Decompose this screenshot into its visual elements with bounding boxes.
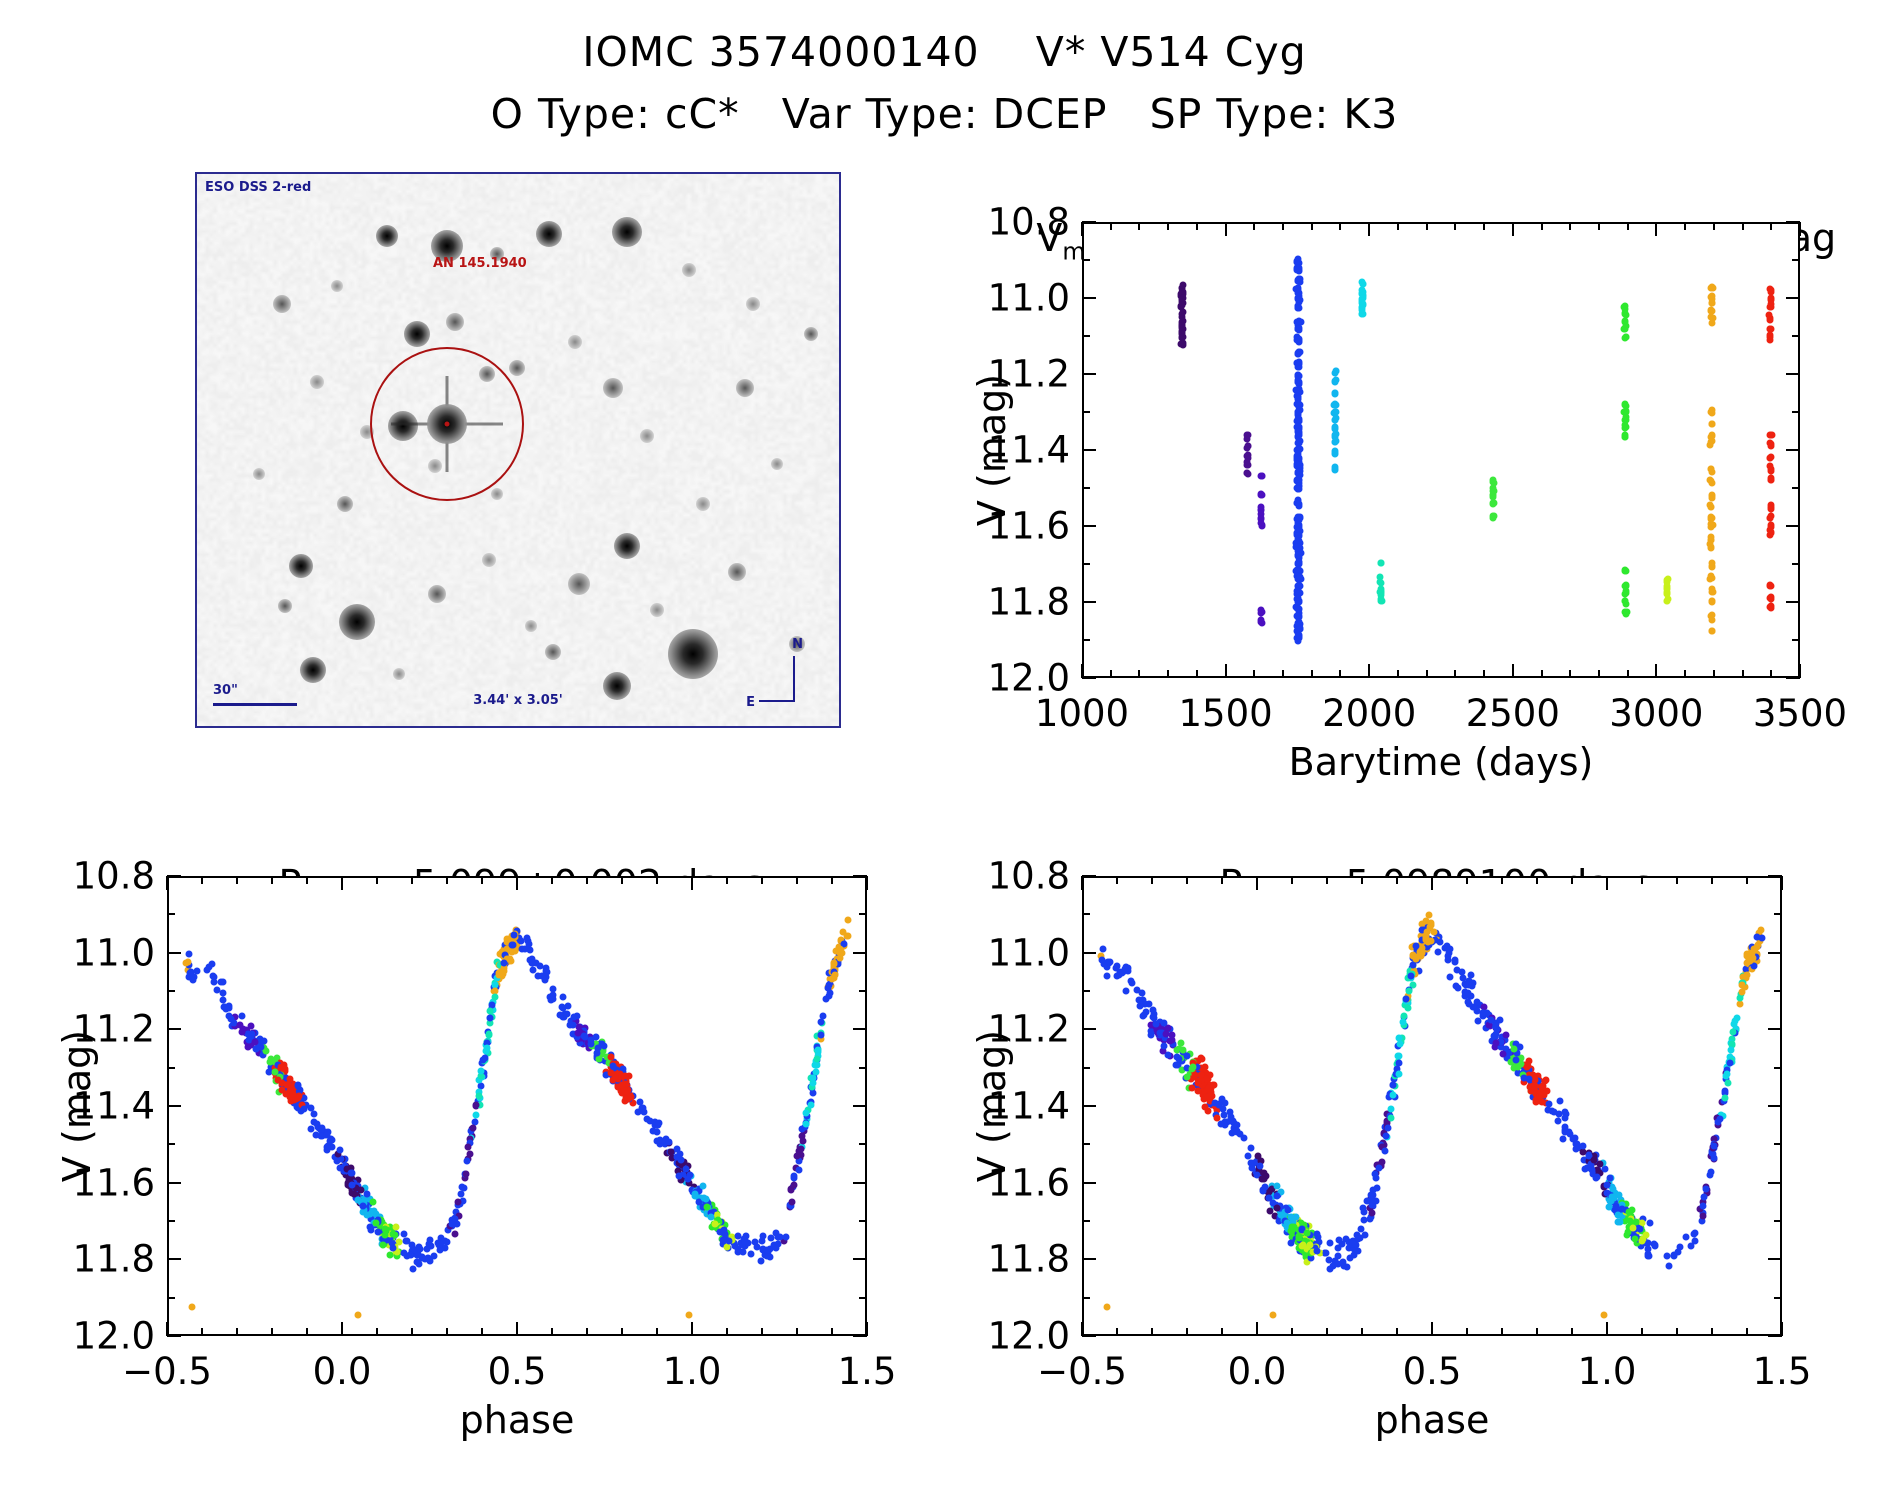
x-axis-tick xyxy=(1655,664,1657,678)
y-axis-tick-label: 10.8 xyxy=(970,201,1070,244)
x-axis-minor-tick xyxy=(1641,1328,1643,1336)
x-axis-minor-tick xyxy=(1326,876,1328,884)
data-point xyxy=(757,1257,764,1264)
x-axis-tick-label: 3500 xyxy=(1753,692,1847,735)
scale-bar-label: 30" xyxy=(213,683,238,698)
data-point xyxy=(1299,1242,1306,1249)
data-point xyxy=(349,1170,356,1177)
data-point xyxy=(416,1260,423,1267)
data-point xyxy=(764,1253,771,1260)
x-axis-tick xyxy=(1081,664,1083,678)
data-point xyxy=(1615,1219,1622,1226)
data-point xyxy=(409,1265,416,1272)
data-point xyxy=(1767,594,1774,601)
x-axis-tick-label: 0.0 xyxy=(313,1350,372,1393)
y-axis-minor-tick xyxy=(167,913,175,915)
y-axis-tick xyxy=(1768,875,1782,877)
field-star xyxy=(337,496,353,512)
data-point xyxy=(1497,1016,1504,1023)
x-axis-minor-tick xyxy=(271,1328,273,1336)
data-point xyxy=(741,1238,748,1245)
data-point xyxy=(1114,963,1121,970)
x-axis-minor-tick xyxy=(726,876,728,884)
y-axis-minor-tick xyxy=(1792,639,1800,641)
data-point xyxy=(1754,934,1761,941)
data-point xyxy=(796,1166,803,1173)
data-point xyxy=(253,1045,260,1052)
data-point xyxy=(1728,1046,1735,1053)
y-axis-tick xyxy=(853,1335,867,1337)
data-point xyxy=(465,1143,472,1150)
x-axis-minor-tick xyxy=(236,1328,238,1336)
data-point xyxy=(1403,996,1410,1003)
x-axis-minor-tick xyxy=(1466,1328,1468,1336)
field-star xyxy=(728,563,746,581)
data-point xyxy=(495,971,502,978)
x-axis-minor-tick xyxy=(1641,876,1643,884)
x-axis-minor-tick xyxy=(1541,222,1543,230)
data-point xyxy=(1651,1241,1658,1248)
x-axis-minor-tick xyxy=(1138,222,1140,230)
data-point xyxy=(1614,1212,1621,1219)
data-point xyxy=(1636,1226,1643,1233)
compass-east-label: E xyxy=(746,695,755,710)
data-point xyxy=(1333,377,1340,384)
data-point xyxy=(1622,421,1629,428)
data-point xyxy=(692,1191,699,1198)
data-point xyxy=(487,1007,494,1014)
field-star xyxy=(682,263,696,277)
data-point xyxy=(1296,573,1303,580)
data-point xyxy=(1502,1032,1509,1039)
x-axis-minor-tick xyxy=(1253,670,1255,678)
y-axis-minor-tick xyxy=(859,913,867,915)
data-point xyxy=(721,1230,728,1237)
data-point xyxy=(1295,325,1302,332)
data-point xyxy=(1488,1016,1495,1023)
data-point xyxy=(1285,1206,1292,1213)
y-axis-tick xyxy=(1768,1182,1782,1184)
y-axis-tick xyxy=(1082,221,1096,223)
data-point xyxy=(1150,1007,1157,1014)
data-point xyxy=(475,1092,482,1099)
x-axis-minor-tick xyxy=(1311,222,1313,230)
y-axis-minor-tick xyxy=(1774,1067,1782,1069)
data-point xyxy=(1709,589,1716,596)
x-axis-minor-tick xyxy=(411,1328,413,1336)
data-point xyxy=(1294,551,1301,558)
data-point xyxy=(1709,284,1716,291)
iomc-summary-sheet: IOMC 3574000140 V* V514 Cyg O Type: cC* … xyxy=(0,0,1889,1494)
data-point xyxy=(1349,1241,1356,1248)
x-axis-tick xyxy=(691,1322,693,1336)
y-axis-tick xyxy=(1786,373,1800,375)
data-point xyxy=(1383,1132,1390,1139)
data-point xyxy=(437,1240,444,1247)
data-point xyxy=(1621,324,1628,331)
data-point xyxy=(312,1131,319,1138)
data-point xyxy=(1670,1253,1677,1260)
data-point xyxy=(1700,1194,1707,1201)
field-star xyxy=(300,657,326,683)
compass-north-axis xyxy=(793,656,795,702)
y-axis-minor-tick xyxy=(1082,1067,1090,1069)
x-axis-tick xyxy=(1512,222,1514,236)
field-star xyxy=(650,603,664,617)
data-point xyxy=(1521,1075,1528,1082)
y-axis-minor-tick xyxy=(167,1297,175,1299)
x-axis-minor-tick xyxy=(1396,876,1398,884)
x-axis-tick-label: 2000 xyxy=(1322,692,1416,735)
x-axis-tick-label: 1.0 xyxy=(663,1350,722,1393)
data-point xyxy=(1359,311,1366,318)
x-axis-minor-tick xyxy=(1676,876,1678,884)
x-axis-tick xyxy=(1256,876,1258,890)
data-point xyxy=(1204,1094,1211,1101)
y-axis-tick xyxy=(167,1258,181,1260)
data-point xyxy=(364,1212,371,1219)
data-point xyxy=(301,1105,308,1112)
x-axis-minor-tick xyxy=(796,1328,798,1336)
y-axis-tick xyxy=(167,1028,181,1030)
data-point xyxy=(1179,309,1186,316)
data-point xyxy=(401,1230,408,1237)
data-point xyxy=(1452,959,1459,966)
lightcurve-y-axis-label: V (mag) xyxy=(970,350,1014,550)
data-point xyxy=(1537,1093,1544,1100)
data-point xyxy=(1331,389,1338,396)
x-axis-minor-tick xyxy=(1339,670,1341,678)
data-point xyxy=(491,994,498,1001)
data-point xyxy=(1767,463,1774,470)
x-axis-tick xyxy=(691,876,693,890)
x-axis-minor-tick xyxy=(201,1328,203,1336)
data-point xyxy=(1767,604,1774,611)
data-point xyxy=(283,1090,290,1097)
data-point xyxy=(1099,956,1106,963)
y-axis-minor-tick xyxy=(167,1143,175,1145)
x-axis-minor-tick xyxy=(1361,1328,1363,1336)
data-point xyxy=(1376,1164,1383,1171)
y-axis-tick xyxy=(853,875,867,877)
x-axis-minor-tick xyxy=(656,1328,658,1336)
data-point xyxy=(1612,1203,1619,1210)
y-axis-tick xyxy=(167,1105,181,1107)
data-point xyxy=(1580,1143,1587,1150)
data-point xyxy=(1708,477,1715,484)
x-axis-minor-tick xyxy=(201,876,203,884)
field-star xyxy=(393,668,405,680)
data-point xyxy=(1274,1193,1281,1200)
data-point xyxy=(549,995,556,1002)
x-axis-minor-tick xyxy=(1282,670,1284,678)
data-point xyxy=(1688,1243,1695,1250)
y-axis-tick-label: 11.0 xyxy=(970,277,1070,320)
data-point xyxy=(702,1196,709,1203)
x-axis-minor-tick xyxy=(621,876,623,884)
data-point xyxy=(517,937,524,944)
x-axis-tick xyxy=(866,876,868,890)
data-point xyxy=(1699,1202,1706,1209)
field-star xyxy=(289,554,313,578)
y-axis-minor-tick xyxy=(167,1220,175,1222)
data-point xyxy=(310,1110,317,1117)
data-point xyxy=(1711,1142,1718,1149)
y-axis-tick xyxy=(1786,525,1800,527)
data-point xyxy=(1295,359,1302,366)
data-point xyxy=(1140,1012,1147,1019)
x-axis-minor-tick xyxy=(1110,670,1112,678)
data-point xyxy=(1559,1135,1566,1142)
data-point xyxy=(1274,1205,1281,1212)
data-point xyxy=(704,1203,711,1210)
x-axis-minor-tick xyxy=(1151,1328,1153,1336)
data-point xyxy=(1768,432,1775,439)
data-point xyxy=(1405,988,1412,995)
x-axis-tick xyxy=(516,1322,518,1336)
y-axis-tick-label: 11.0 xyxy=(970,931,1070,974)
data-point xyxy=(1245,1153,1252,1160)
x-axis-minor-tick xyxy=(1466,876,1468,884)
data-point xyxy=(1597,1161,1604,1168)
x-axis-minor-tick xyxy=(1454,222,1456,230)
x-axis-minor-tick xyxy=(481,876,483,884)
data-point xyxy=(836,955,843,962)
data-point xyxy=(683,1166,690,1173)
data-point xyxy=(1194,1079,1201,1086)
data-point xyxy=(1491,1032,1498,1039)
data-point xyxy=(759,1233,766,1240)
field-star xyxy=(428,585,446,603)
y-axis-minor-tick xyxy=(1082,335,1090,337)
data-point xyxy=(823,995,830,1002)
x-axis-minor-tick xyxy=(446,876,448,884)
data-point xyxy=(323,1132,330,1139)
y-axis-minor-tick xyxy=(1082,259,1090,261)
data-point xyxy=(500,960,507,967)
y-axis-tick xyxy=(853,1028,867,1030)
x-axis-tick xyxy=(1256,1322,1258,1336)
data-point xyxy=(1766,311,1773,318)
y-axis-minor-tick xyxy=(859,1220,867,1222)
data-point xyxy=(1295,275,1302,282)
data-point xyxy=(1397,1041,1404,1048)
x-axis-minor-tick xyxy=(1339,222,1341,230)
data-point xyxy=(1708,543,1715,550)
field-star xyxy=(525,620,537,632)
x-axis-minor-tick xyxy=(1361,876,1363,884)
data-point xyxy=(832,971,839,978)
data-point xyxy=(1453,966,1460,973)
field-of-view-label: 3.44' x 3.05' xyxy=(473,693,563,708)
y-axis-tick xyxy=(1082,875,1096,877)
phase-omc-x-axis-label: phase xyxy=(460,1398,575,1442)
data-point xyxy=(1746,957,1753,964)
data-point xyxy=(754,1243,761,1250)
data-point xyxy=(1703,1185,1710,1192)
x-axis-tick-label: 3000 xyxy=(1609,692,1703,735)
x-axis-minor-tick xyxy=(1291,1328,1293,1336)
data-point xyxy=(1168,1031,1175,1038)
x-axis-minor-tick xyxy=(1713,222,1715,230)
x-axis-minor-tick xyxy=(586,1328,588,1336)
data-point xyxy=(723,1243,730,1250)
y-axis-tick xyxy=(167,1182,181,1184)
data-point xyxy=(1219,1096,1226,1103)
data-point xyxy=(1237,1130,1244,1137)
x-axis-minor-tick xyxy=(1221,1328,1223,1336)
data-point xyxy=(827,989,834,996)
page-header: IOMC 3574000140 V* V514 Cyg O Type: cC* … xyxy=(0,0,1889,138)
data-point xyxy=(1373,1184,1380,1191)
y-axis-tick xyxy=(1082,952,1096,954)
data-point xyxy=(575,1029,582,1036)
data-point xyxy=(1738,982,1745,989)
data-point xyxy=(367,1226,374,1233)
x-axis-tick xyxy=(166,876,168,890)
x-axis-minor-tick xyxy=(271,876,273,884)
field-star xyxy=(376,225,398,247)
x-axis-tick xyxy=(1081,1322,1083,1336)
data-point xyxy=(1173,1053,1180,1060)
y-axis-tick xyxy=(1786,677,1800,679)
x-axis-minor-tick xyxy=(1598,670,1600,678)
data-point xyxy=(1388,1106,1395,1113)
data-point xyxy=(1269,1312,1276,1319)
data-point xyxy=(1707,1169,1714,1176)
field-star xyxy=(771,458,783,470)
x-axis-minor-tick xyxy=(1742,670,1744,678)
data-point xyxy=(390,1245,397,1252)
y-axis-tick-label: 10.8 xyxy=(970,855,1070,898)
data-point xyxy=(1683,1234,1690,1241)
y-axis-tick xyxy=(853,1182,867,1184)
data-point xyxy=(1561,1115,1568,1122)
data-point xyxy=(1389,1081,1396,1088)
x-axis-minor-tick xyxy=(1711,1328,1713,1336)
data-point xyxy=(1332,430,1339,437)
data-point xyxy=(1499,1050,1506,1057)
x-axis-minor-tick xyxy=(1598,222,1600,230)
x-axis-minor-tick xyxy=(586,876,588,884)
data-point xyxy=(720,1236,727,1243)
x-axis-tick xyxy=(516,876,518,890)
data-point xyxy=(1588,1163,1595,1170)
x-axis-minor-tick xyxy=(1711,876,1713,884)
data-point xyxy=(1394,1053,1401,1060)
data-point xyxy=(1294,266,1301,273)
field-star xyxy=(253,468,265,480)
x-axis-tick-label: 1.5 xyxy=(838,1350,897,1393)
x-axis-tick xyxy=(1368,664,1370,678)
data-point xyxy=(1295,409,1302,416)
data-point xyxy=(1768,441,1775,448)
data-point xyxy=(1189,1084,1196,1091)
target-aperture-circle xyxy=(370,347,524,501)
y-axis-tick xyxy=(1786,221,1800,223)
finder-chart-panel: ESO DSS 2-red AN 145.1940 30" 3.44' x 3.… xyxy=(195,172,845,732)
data-point xyxy=(354,1196,361,1203)
data-point xyxy=(1625,1209,1632,1216)
y-axis-minor-tick xyxy=(1792,259,1800,261)
data-point xyxy=(1368,1210,1375,1217)
data-point xyxy=(836,945,843,952)
x-axis-minor-tick xyxy=(1571,1328,1573,1336)
data-point xyxy=(1665,1262,1672,1269)
field-star xyxy=(668,629,718,679)
data-point xyxy=(1147,1032,1154,1039)
field-star xyxy=(612,217,642,247)
data-point xyxy=(830,961,837,968)
data-point xyxy=(711,1221,718,1228)
x-axis-minor-tick xyxy=(1742,222,1744,230)
x-axis-minor-tick xyxy=(1138,670,1140,678)
data-point xyxy=(1475,1018,1482,1025)
data-point xyxy=(1604,1181,1611,1188)
data-point xyxy=(798,1145,805,1152)
data-point xyxy=(1593,1174,1600,1181)
data-point xyxy=(357,1186,364,1193)
y-axis-minor-tick xyxy=(1082,411,1090,413)
x-axis-minor-tick xyxy=(1770,222,1772,230)
data-point xyxy=(479,1057,486,1064)
data-point xyxy=(426,1258,433,1265)
data-point xyxy=(791,1182,798,1189)
field-star xyxy=(696,497,710,511)
y-axis-tick xyxy=(1786,601,1800,603)
field-star xyxy=(331,280,343,292)
data-point xyxy=(1331,401,1338,408)
data-point xyxy=(1767,454,1774,461)
data-point xyxy=(294,1082,301,1089)
data-point xyxy=(1737,1001,1744,1008)
data-point xyxy=(1332,367,1339,374)
lightcurve-plot-area xyxy=(1082,222,1800,678)
data-point xyxy=(1513,1057,1520,1064)
data-point xyxy=(1244,469,1251,476)
data-point xyxy=(416,1246,423,1253)
x-axis-minor-tick xyxy=(1501,876,1503,884)
data-point xyxy=(185,951,192,958)
data-point xyxy=(1325,1257,1332,1264)
data-point xyxy=(1396,1034,1403,1041)
data-point xyxy=(1378,560,1385,567)
y-axis-tick-label: 11.8 xyxy=(970,581,1070,624)
data-point xyxy=(487,1014,494,1021)
data-point xyxy=(1387,1115,1394,1122)
data-point xyxy=(594,1049,601,1056)
x-axis-minor-tick xyxy=(1676,1328,1678,1336)
data-point xyxy=(1699,1213,1706,1220)
data-point xyxy=(763,1246,770,1253)
x-axis-tick xyxy=(1081,876,1083,890)
field-star xyxy=(404,321,430,347)
y-axis-tick xyxy=(1082,601,1096,603)
data-point xyxy=(189,1304,196,1311)
x-axis-tick xyxy=(1431,876,1433,890)
data-point xyxy=(1326,1265,1333,1272)
data-point xyxy=(608,1053,615,1060)
data-point xyxy=(1295,416,1302,423)
y-axis-tick-label: 11.8 xyxy=(55,1238,155,1281)
y-axis-minor-tick xyxy=(1082,1297,1090,1299)
data-point xyxy=(1304,1229,1311,1236)
data-point xyxy=(1708,492,1715,499)
data-point xyxy=(1709,421,1716,428)
y-axis-minor-tick xyxy=(859,1297,867,1299)
x-axis-tick xyxy=(1431,1322,1433,1336)
x-axis-minor-tick xyxy=(236,876,238,884)
